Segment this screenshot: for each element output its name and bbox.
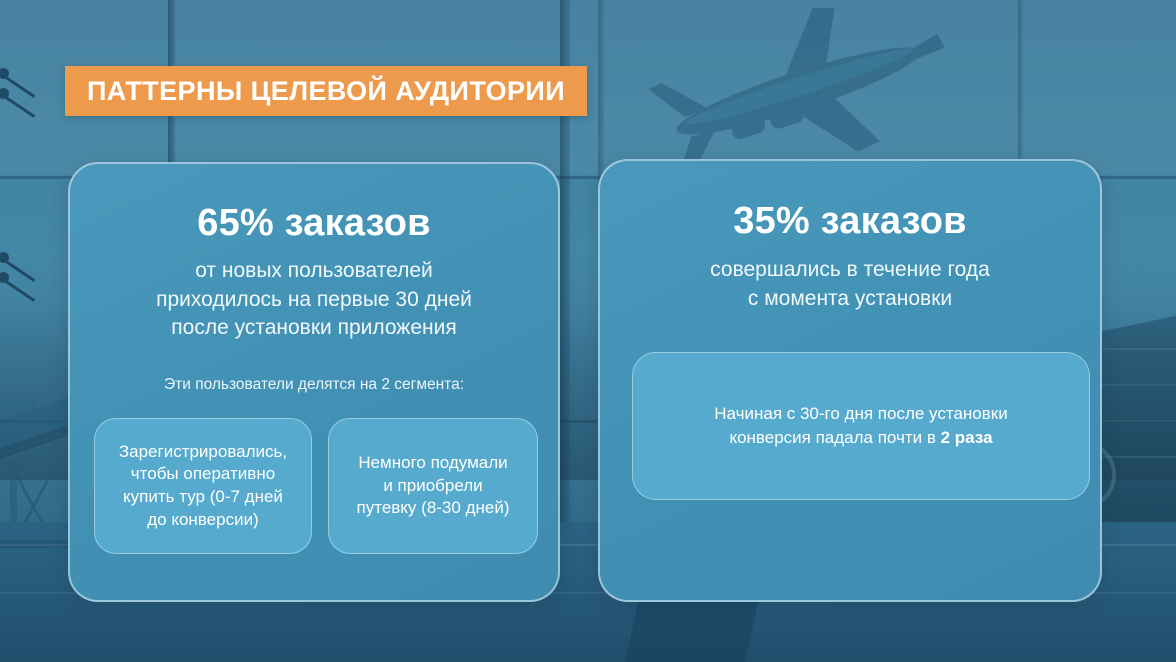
segment-2-line: и приобрели <box>383 476 482 495</box>
left-card-note: Эти пользователи делятся на 2 сегмента: <box>90 376 538 394</box>
page-title: ПАТТЕРНЫ ЦЕЛЕВОЙ АУДИТОРИИ <box>87 76 565 107</box>
right-card-stat: 35% заказов <box>600 200 1100 243</box>
right-card-description-line: совершались в течение года <box>626 256 1074 285</box>
segment-card-1: Зарегистрировались, чтобы оперативно куп… <box>94 418 312 554</box>
segment-card-1-text: Зарегистрировались, чтобы оперативно куп… <box>119 441 287 531</box>
left-card-description-line: после установки приложения <box>94 314 534 343</box>
segment-1-line: чтобы оперативно <box>131 464 275 483</box>
conversion-callout-card: Начиная с 30-го дня после установки конв… <box>632 352 1090 500</box>
segment-card-2-text: Немного подумали и приобрели путевку (8-… <box>357 452 510 520</box>
airplane-icon <box>630 8 960 173</box>
left-card-description-line: от новых пользователей <box>94 257 534 286</box>
left-card-description-line: приходилось на первые 30 дней <box>94 286 534 315</box>
right-card-description: совершались в течение года с момента уст… <box>626 256 1074 313</box>
callout-highlight: 2 раза <box>941 428 993 447</box>
right-card-description-line: с момента установки <box>626 285 1074 314</box>
conversion-callout-text: Начиная с 30-го дня после установки конв… <box>714 402 1007 450</box>
segment-2-line: Немного подумали <box>358 453 507 472</box>
window-latch-icon-1 <box>0 62 56 108</box>
slide-root: ПАТТЕРНЫ ЦЕЛЕВОЙ АУДИТОРИИ 65% заказов о… <box>0 0 1176 662</box>
callout-line-2-prefix: конверсия падала почти в <box>729 428 940 447</box>
segment-card-2: Немного подумали и приобрели путевку (8-… <box>328 418 538 554</box>
segment-2-line: путевку (8-30 дней) <box>357 498 510 517</box>
window-latch-icon-2 <box>0 246 56 292</box>
segment-1-line: купить тур (0-7 дней <box>123 487 283 506</box>
callout-line-1: Начиная с 30-го дня после установки <box>714 404 1007 423</box>
left-card-stat: 65% заказов <box>70 202 558 245</box>
left-stat-card: 65% заказов от новых пользователей прихо… <box>68 162 560 602</box>
segment-1-line: Зарегистрировались, <box>119 442 287 461</box>
right-stat-card: 35% заказов совершались в течение года с… <box>598 159 1102 602</box>
left-card-description: от новых пользователей приходилось на пе… <box>94 257 534 343</box>
slide-title-banner: ПАТТЕРНЫ ЦЕЛЕВОЙ АУДИТОРИИ <box>65 66 587 116</box>
segment-1-line: до конверсии) <box>147 510 258 529</box>
